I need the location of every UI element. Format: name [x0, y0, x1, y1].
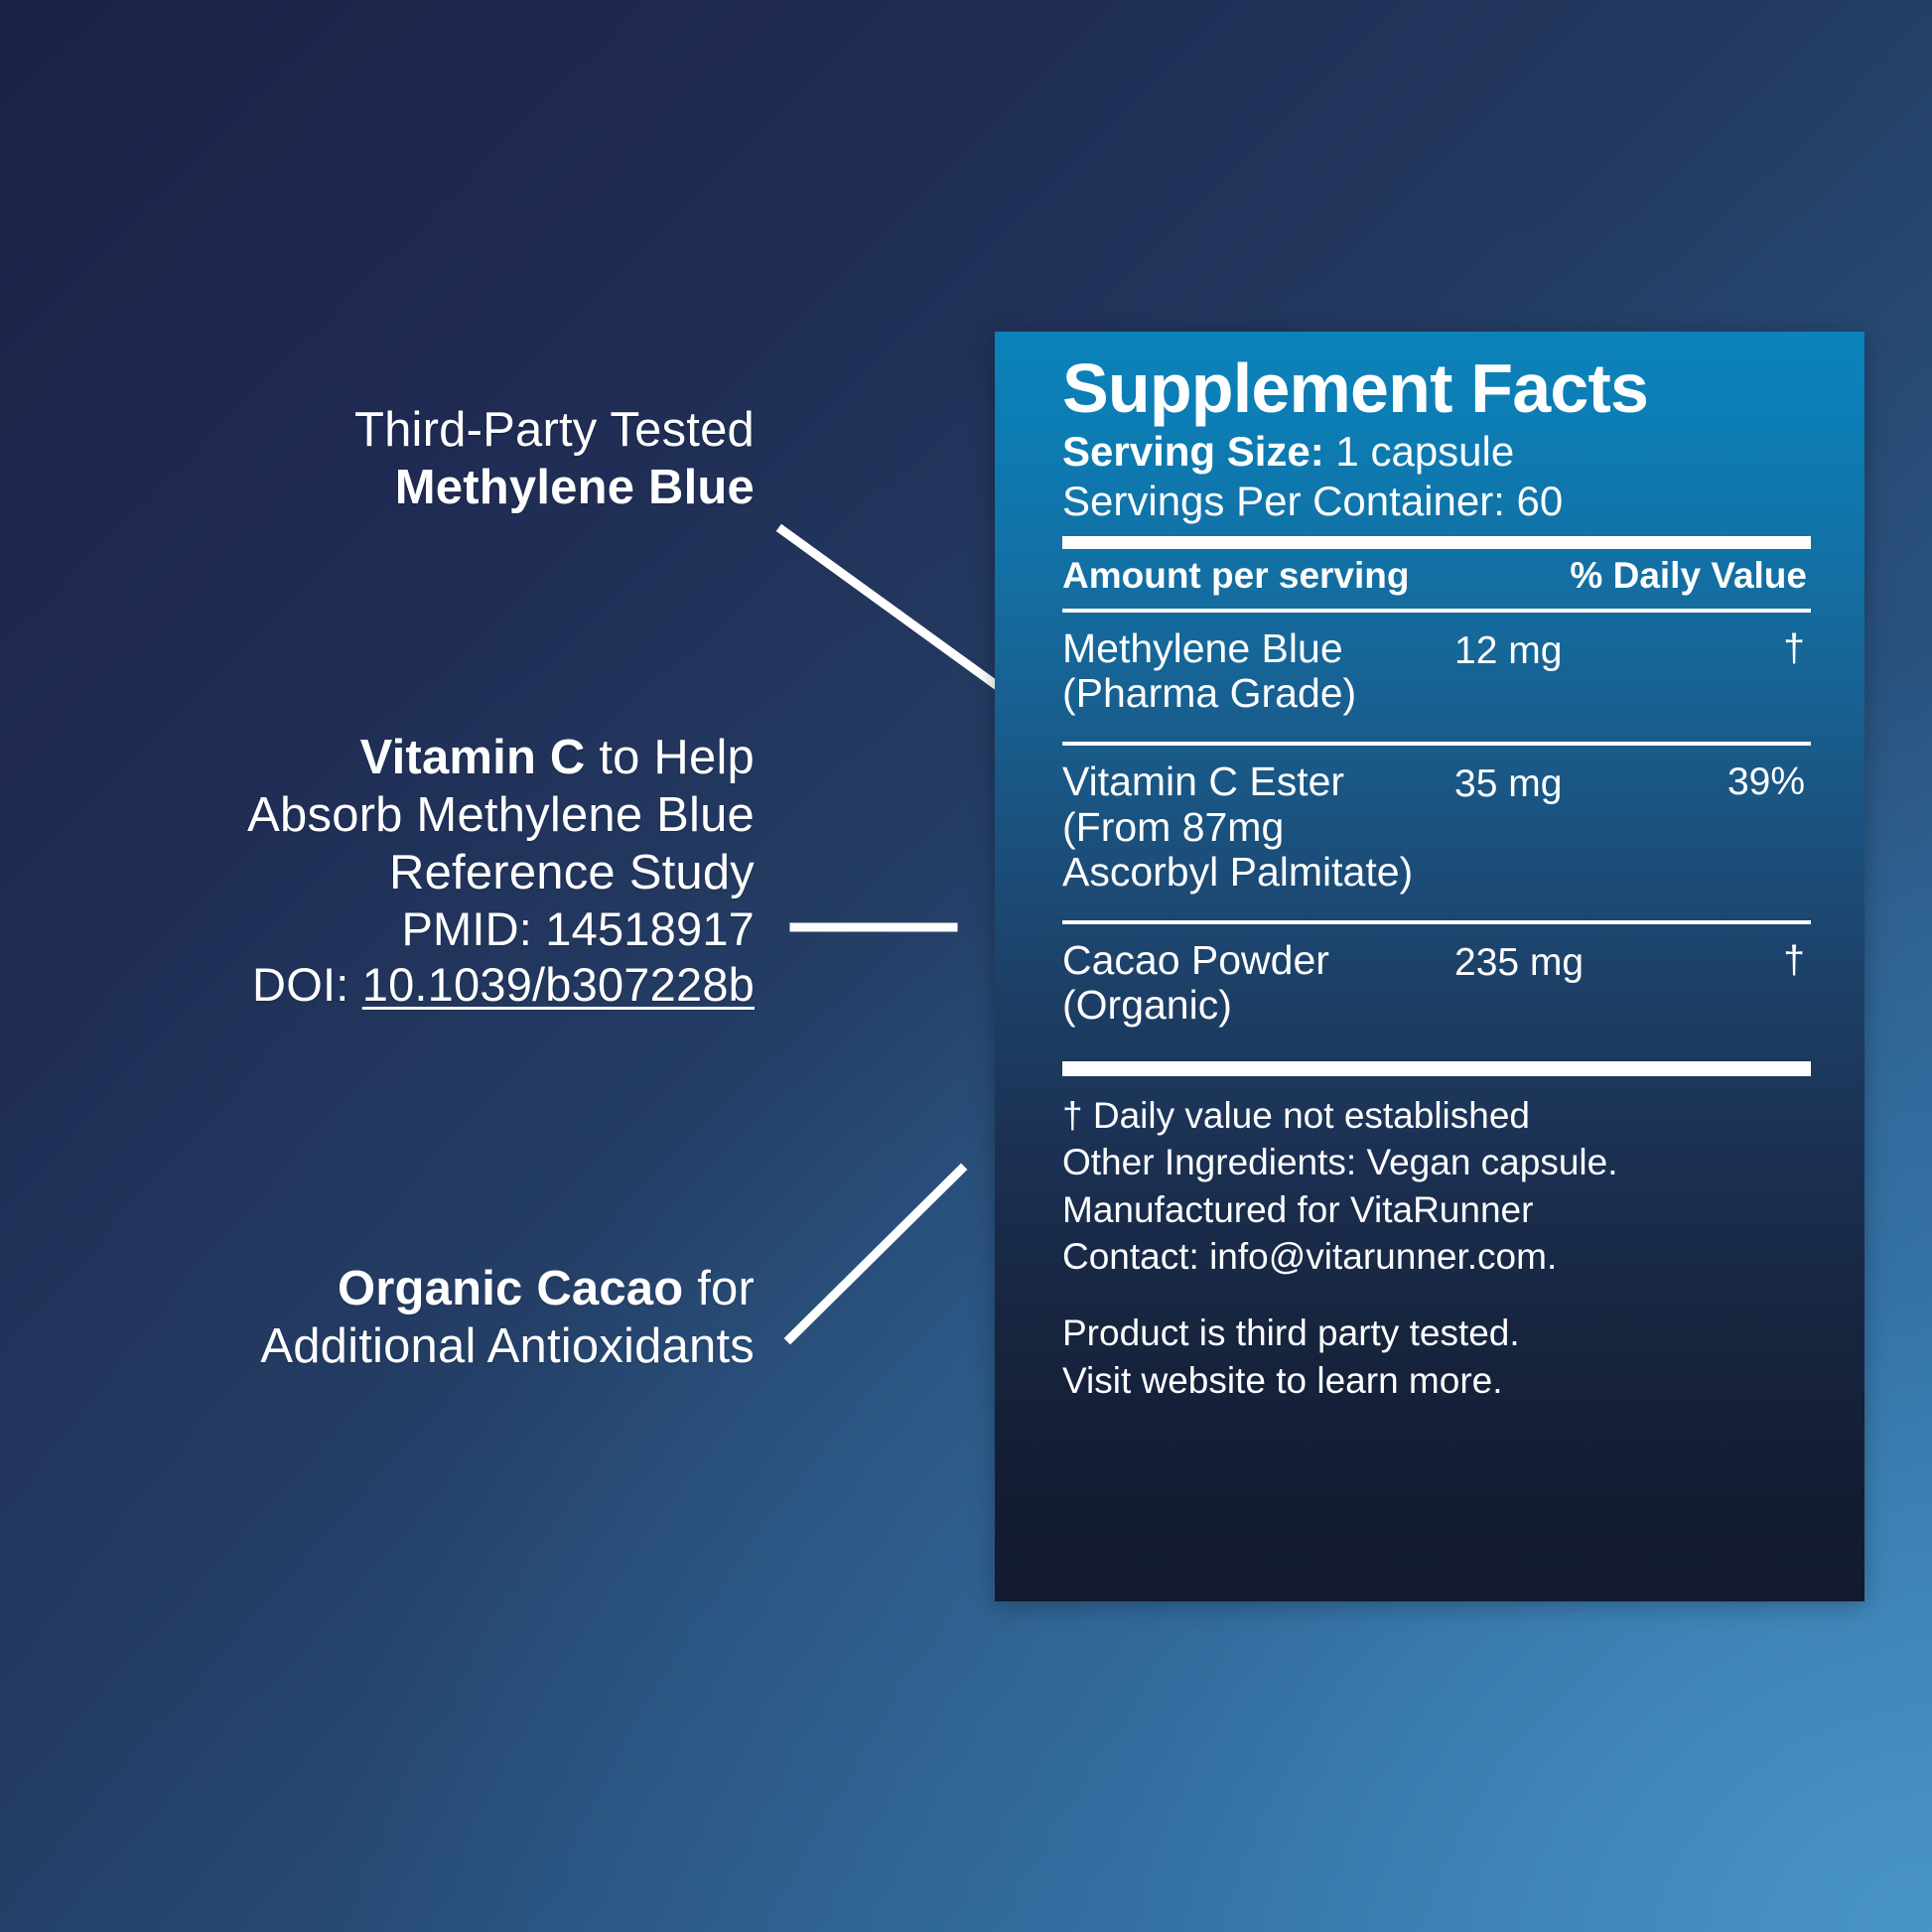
- annotation-2-line-1-tail: to Help: [586, 731, 755, 784]
- footnote-third-party-tested: Product is third party tested.: [1062, 1310, 1811, 1356]
- annotation-3-emphasis: Organic Cacao: [338, 1262, 683, 1315]
- ingredient-name: Methylene Blue: [1062, 625, 1343, 671]
- annotation-3-line-1-tail: for: [683, 1262, 755, 1315]
- annotation-2-line-3: Reference Study: [247, 845, 755, 902]
- ingredient-subtext: (Pharma Grade): [1062, 671, 1454, 716]
- servings-per-container: Servings Per Container: 60: [1062, 477, 1811, 526]
- ingredient-subtext: (From 87mg: [1062, 805, 1454, 850]
- annotation-2-doi: DOI: 10.1039/b307228b: [247, 957, 755, 1012]
- doi-link[interactable]: 10.1039/b307228b: [362, 958, 755, 1011]
- footnote-contact: Contact: info@vitarunner.com.: [1062, 1233, 1811, 1280]
- supplement-facts-panel: Supplement Facts Serving Size: 1 capsule…: [995, 332, 1864, 1601]
- ingredient-daily-value: †: [1698, 938, 1811, 1028]
- footnotes-block: † Daily value not established Other Ingr…: [1062, 1092, 1811, 1404]
- footnote-spacer: [1062, 1280, 1811, 1310]
- serving-size-label: Serving Size:: [1062, 428, 1324, 475]
- connector-line-cacao: [790, 1170, 961, 1338]
- serving-size-value: 1 capsule: [1324, 428, 1514, 475]
- ingredient-daily-value: 39%: [1698, 759, 1811, 894]
- annotation-vitamin-c-reference: Vitamin C to Help Absorb Methylene Blue …: [247, 730, 755, 1012]
- annotation-2-emphasis: Vitamin C: [360, 731, 586, 784]
- annotation-third-party-tested: Third-Party Tested Methylene Blue: [354, 402, 755, 517]
- ingredient-name-cell: Vitamin C Ester (From 87mg Ascorbyl Palm…: [1062, 759, 1454, 894]
- table-row: Vitamin C Ester (From 87mg Ascorbyl Palm…: [1062, 746, 1811, 911]
- annotation-2-line-1: Vitamin C to Help: [247, 730, 755, 787]
- ingredient-name: Cacao Powder: [1062, 937, 1329, 983]
- column-header-daily-value: % Daily Value: [1524, 555, 1811, 597]
- serving-size-line: Serving Size: 1 capsule: [1062, 427, 1811, 477]
- annotation-2-pmid: PMID: 14518917: [247, 901, 755, 956]
- product-supplement-facts-graphic: Third-Party Tested Methylene Blue Vitami…: [0, 0, 1932, 1932]
- footnote-visit-website: Visit website to learn more.: [1062, 1357, 1811, 1404]
- pmid-value: 14518917: [545, 902, 755, 955]
- annotation-3-line-2: Additional Antioxidants: [260, 1318, 755, 1376]
- ingredient-name: Vitamin C Ester: [1062, 759, 1344, 804]
- table-row: Cacao Powder (Organic) 235 mg †: [1062, 924, 1811, 1045]
- footnote-manufactured-for: Manufactured for VitaRunner: [1062, 1186, 1811, 1233]
- annotation-1-line-1: Third-Party Tested: [354, 402, 755, 460]
- ingredient-name-cell: Cacao Powder (Organic): [1062, 938, 1454, 1028]
- ingredient-subtext-2: Ascorbyl Palmitate): [1062, 850, 1454, 895]
- doi-label: DOI:: [252, 958, 362, 1011]
- table-row: Methylene Blue (Pharma Grade) 12 mg †: [1062, 613, 1811, 734]
- rule-thick-top: [1062, 536, 1811, 549]
- pmid-label: PMID:: [401, 902, 545, 955]
- panel-title: Supplement Facts: [1062, 351, 1811, 425]
- ingredient-amount: 235 mg: [1454, 938, 1698, 1028]
- annotation-3-line-1: Organic Cacao for: [260, 1261, 755, 1318]
- table-column-headers: Amount per serving % Daily Value: [1062, 555, 1811, 601]
- ingredient-amount: 12 mg: [1454, 626, 1698, 716]
- annotation-2-line-2: Absorb Methylene Blue: [247, 787, 755, 845]
- rule-thick-bottom: [1062, 1061, 1811, 1076]
- ingredient-name-cell: Methylene Blue (Pharma Grade): [1062, 626, 1454, 716]
- footnote-other-ingredients: Other Ingredients: Vegan capsule.: [1062, 1139, 1811, 1185]
- annotation-organic-cacao: Organic Cacao for Additional Antioxidant…: [260, 1261, 755, 1376]
- annotation-column: Third-Party Tested Methylene Blue Vitami…: [60, 0, 755, 1932]
- column-header-amount: Amount per serving: [1062, 555, 1524, 597]
- ingredient-subtext: (Organic): [1062, 983, 1454, 1028]
- connector-line-methylene-blue: [782, 530, 999, 687]
- ingredient-daily-value: †: [1698, 626, 1811, 716]
- footnote-dagger: † Daily value not established: [1062, 1092, 1811, 1139]
- annotation-1-line-2: Methylene Blue: [354, 460, 755, 517]
- ingredient-amount: 35 mg: [1454, 759, 1698, 894]
